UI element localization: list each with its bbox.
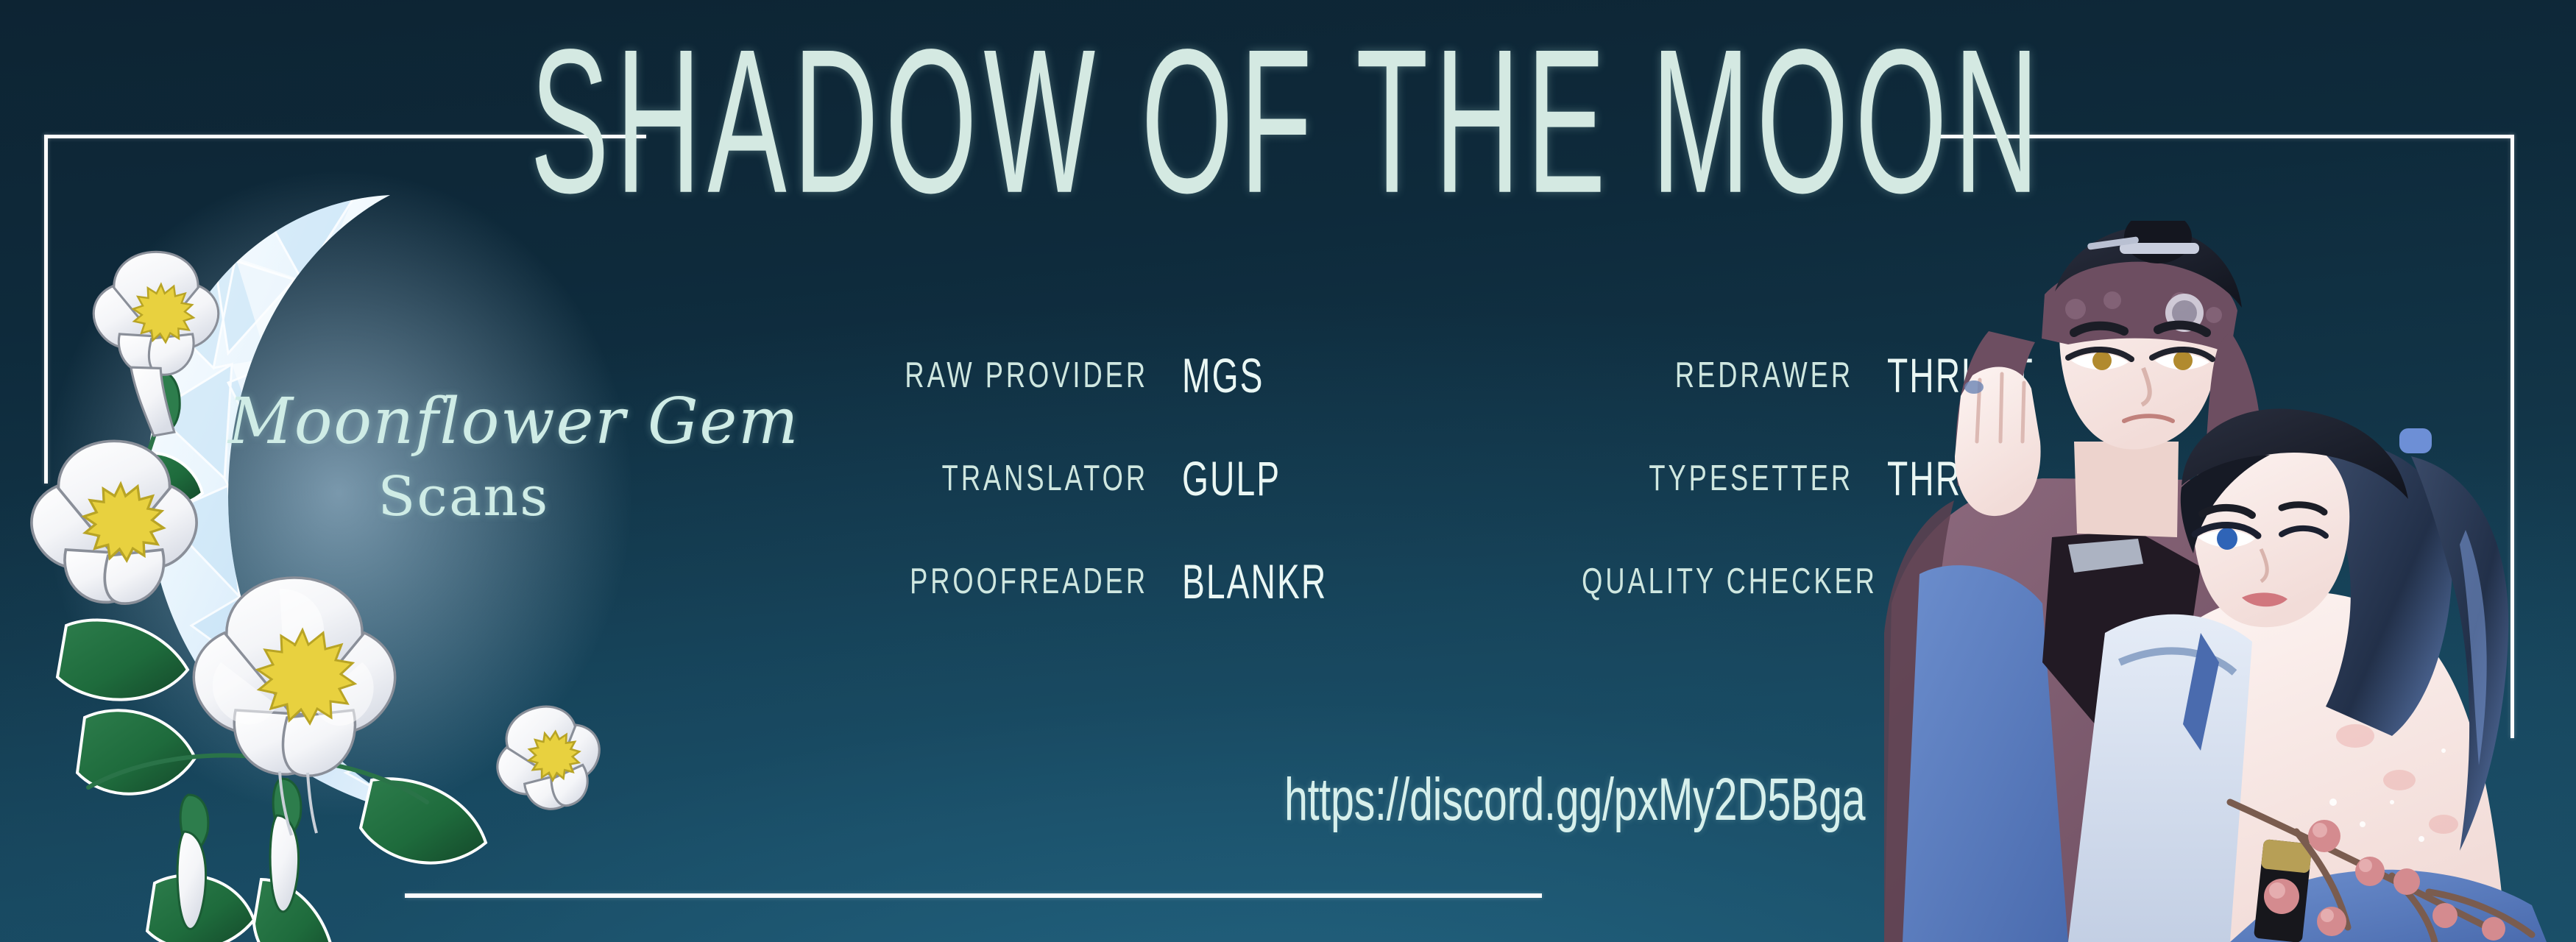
page-title-text: SHADOW OF THE MOON (530, 18, 2045, 224)
crescent-moon-icon (44, 169, 736, 876)
credit-name-value: MGS (1182, 347, 1264, 403)
credit-role-label: REDRAWER (1576, 355, 1853, 396)
credit-row-raw-provider: RAW PROVIDER MGS (773, 324, 1390, 427)
credit-row-translator: TRANSLATOR GULP (773, 427, 1390, 530)
hand-on-face (1955, 366, 2041, 516)
discord-invite-link[interactable]: https://discord.gg/pxMy2D5Bga (1284, 765, 1865, 835)
credit-row-proofreader: PROOFREADER BLANKR (773, 530, 1390, 633)
hair-tie (2399, 428, 2432, 453)
credit-name-value: BLANKR (1182, 553, 1327, 609)
couple-illustration (1884, 221, 2576, 942)
credits-page: SHADOW OF THE MOON RAW PROVIDER MGS REDR… (0, 0, 2576, 942)
credit-role-label: RAW PROVIDER (871, 355, 1148, 396)
credit-name-value: GULP (1182, 450, 1281, 506)
credit-role-label: QUALITY CHECKER (1582, 561, 1878, 602)
moonflower-gem-scans-logo: Moonflower Gem Scans (44, 169, 736, 876)
leaf-icon (361, 779, 486, 863)
frame-line-bottom (405, 893, 1542, 898)
credits-list: RAW PROVIDER MGS REDRAWER THRUST TRANSLA… (773, 324, 1906, 633)
credit-role-label: PROOFREADER (871, 561, 1148, 602)
credit-role-label: TRANSLATOR (871, 458, 1148, 499)
page-title: SHADOW OF THE MOON (662, 25, 1914, 216)
cover-artwork (1884, 221, 2576, 942)
man-blue-sleeve (1903, 565, 2068, 942)
credit-role-label: TYPESETTER (1576, 458, 1853, 499)
hairpin-icon (2120, 243, 2199, 254)
